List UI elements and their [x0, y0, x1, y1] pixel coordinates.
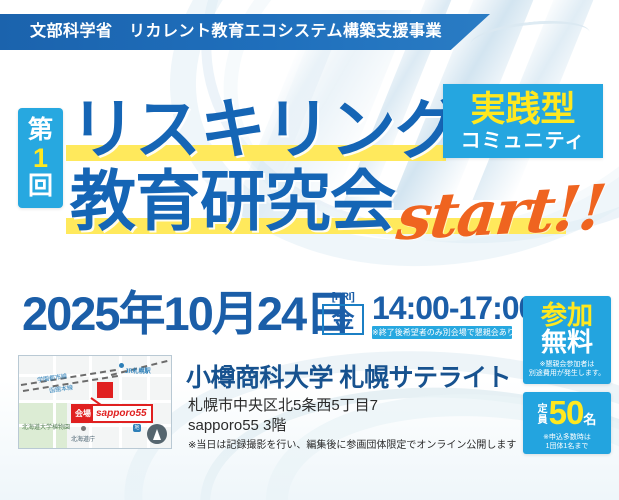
fee-badge-note-1: ※懇親会参加者は	[540, 360, 595, 369]
map-venue-label: 会場 sapporo55	[71, 404, 153, 423]
venue-map: 学園都市線 函館本線 JR札幌駅 会場 sapporo55 北海道大学植物園 北…	[18, 355, 172, 449]
issue-suffix: 回	[28, 173, 53, 199]
capacity-label: 定 員	[538, 404, 548, 426]
map-road-v1	[53, 356, 56, 448]
weekday-japanese: 金	[322, 304, 364, 335]
title-line-2: 教育研究会	[70, 168, 395, 234]
practice-community-badge: 実践型 コミュニティ	[443, 84, 603, 158]
capacity-note-1: ※申込多数時は	[523, 433, 611, 442]
issue-number: 1	[33, 144, 48, 172]
venue-address-line1: 札幌市中央区北5条西5丁目7	[188, 394, 378, 415]
fee-badge: 参加 無料 ※懇親会参加者は 別途費用が発生します。	[523, 296, 611, 384]
map-station-label: JR札幌駅	[125, 366, 151, 375]
map-government-label: 北海道庁	[71, 434, 95, 443]
map-rail-label-1: 学園都市線	[37, 371, 68, 384]
weekday-badge: [FRI] 金	[322, 292, 364, 335]
map-station-dot	[119, 363, 124, 368]
event-date: 2025年10月24日	[22, 290, 350, 337]
event-poster: 文部科学省 リカレント教育エコシステム構築支援事業 第 1 回 リスキリング 教…	[0, 0, 619, 500]
map-subway-icon: 地	[133, 424, 141, 432]
fee-badge-line2: 無料	[541, 329, 593, 356]
compass-icon	[147, 424, 167, 444]
banner-label: 文部科学省 リカレント教育エコシステム構築支援事業	[30, 14, 442, 50]
issue-prefix: 第	[28, 117, 53, 143]
community-badge-main: 実践型	[470, 92, 575, 127]
map-venue-marker	[97, 382, 113, 398]
capacity-unit: 名	[583, 413, 596, 426]
weekday-english: [FRI]	[322, 292, 364, 303]
map-park-label: 北海道大学植物園	[22, 422, 64, 431]
map-government-dot	[81, 426, 86, 431]
capacity-note-2: 1団体1名まで	[523, 442, 611, 451]
capacity-label-line1: 定	[538, 404, 548, 415]
map-venue-label-tag: 会場	[73, 406, 93, 421]
issue-number-badge: 第 1 回	[18, 108, 63, 208]
venue-recording-note: ※当日は記録撮影を行い、編集後に参画団体限定でオンライン公開します	[188, 436, 516, 451]
compass-needle	[153, 429, 161, 440]
map-venue-label-name: sapporo55	[93, 408, 147, 419]
program-banner: 文部科学省 リカレント教育エコシステム構築支援事業	[0, 14, 490, 50]
capacity-number: 50	[549, 396, 584, 429]
event-time: 14:00-17:00	[372, 292, 535, 324]
capacity-row: 定 員 50 名	[523, 396, 611, 429]
capacity-label-line2: 員	[538, 415, 548, 426]
event-time-note: ※終了後希望者のみ別会場で懇親会あり	[372, 326, 512, 339]
title-line-1: リスキリング	[70, 96, 460, 162]
fee-badge-note-2: 別途費用が発生します。	[529, 369, 605, 378]
start-script-text: start!!	[393, 171, 608, 255]
map-road-v3	[119, 356, 122, 448]
capacity-badge: 定 員 50 名 ※申込多数時は 1団体1名まで	[523, 392, 611, 454]
community-badge-sub: コミュニティ	[461, 131, 586, 151]
fee-badge-line1: 参加	[541, 302, 593, 329]
map-rail-label-2: 函館本線	[48, 382, 73, 394]
venue-address-line2: sapporo55 3階	[188, 414, 286, 435]
venue-name: 小樽商科大学 札幌サテライト	[186, 358, 511, 394]
